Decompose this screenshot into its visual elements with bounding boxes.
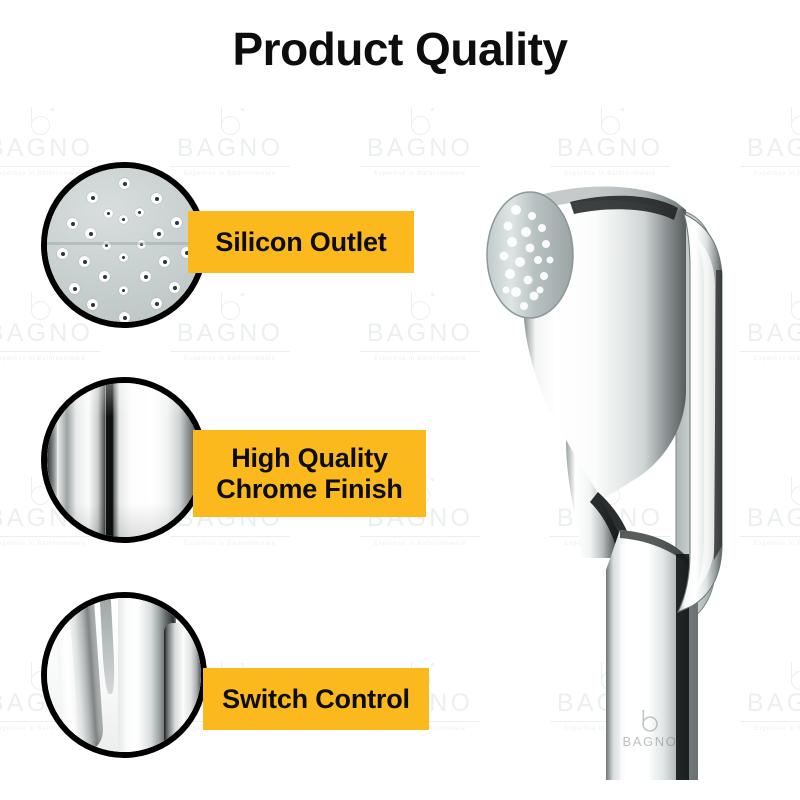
svg-text:BAGNO: BAGNO xyxy=(623,734,678,749)
label-chrome-finish-text: High Quality Chrome Finish xyxy=(216,443,402,503)
label-chrome-finish: High Quality Chrome Finish xyxy=(193,430,426,517)
page-title: Product Quality xyxy=(0,22,800,76)
label-silicon-outlet: Silicon Outlet xyxy=(188,211,414,273)
feature-circle-chrome-finish xyxy=(41,377,207,543)
product-quality-infographic: BAGNOExpertise in BathroomwareBAGNOExper… xyxy=(0,0,800,800)
feature-circle-silicon-outlet xyxy=(41,162,207,328)
trigger-lever-closeup xyxy=(47,598,201,752)
chrome-surface-closeup xyxy=(47,383,201,537)
label-switch-control: Switch Control xyxy=(203,668,429,730)
label-switch-control-text: Switch Control xyxy=(222,684,410,714)
content-layer: Product Quality xyxy=(0,0,800,800)
feature-circle-switch-control xyxy=(41,592,207,758)
silicone-spray-face-closeup xyxy=(47,168,201,322)
label-silicon-outlet-text: Silicon Outlet xyxy=(215,227,386,257)
product-image-sprayer: BAGNO xyxy=(470,140,790,780)
